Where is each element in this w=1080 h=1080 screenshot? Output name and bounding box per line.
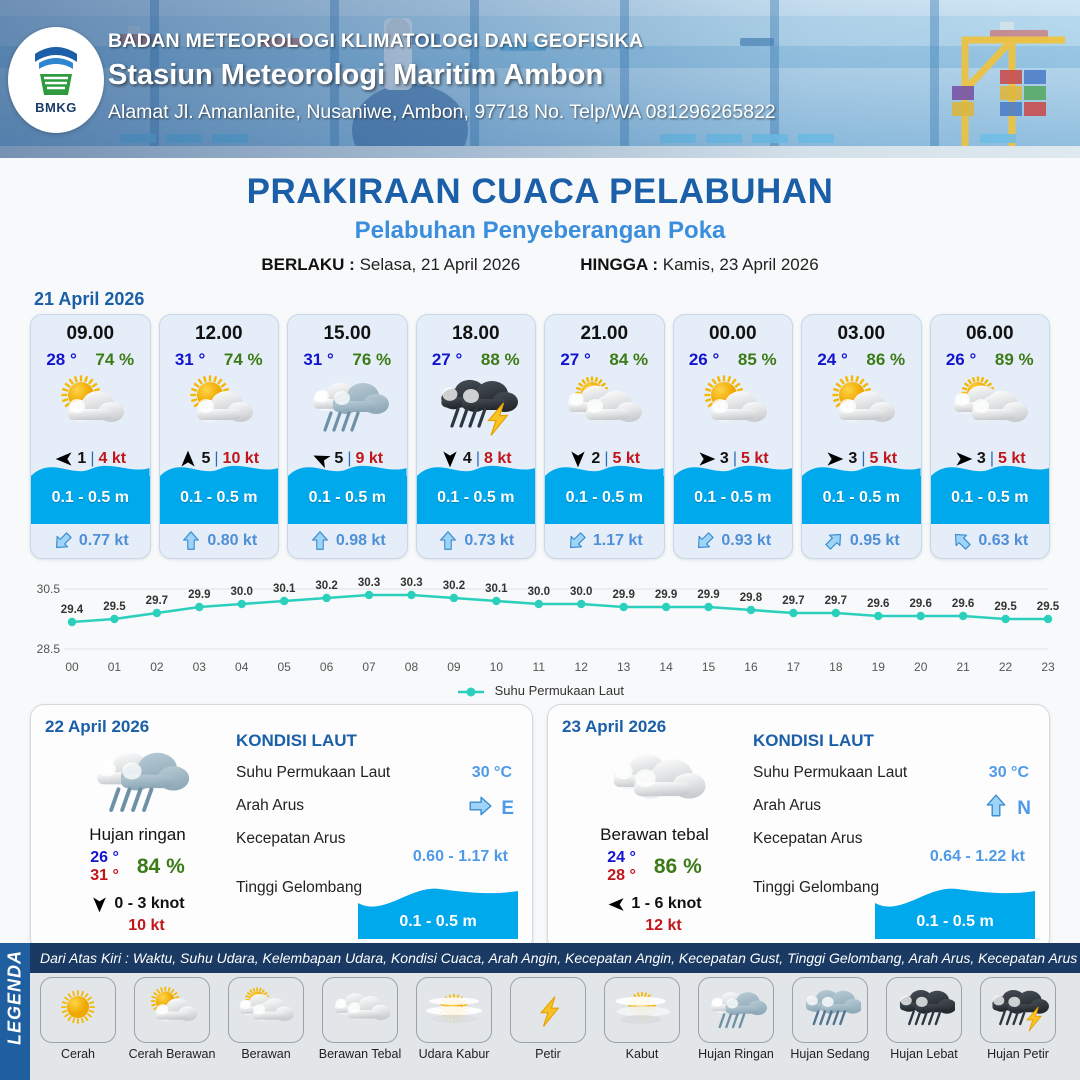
wave-crest-icon: [802, 460, 921, 478]
current-direction-label: Arah Arus: [753, 797, 821, 814]
card-wave-height: 0.1 - 0.5 m: [931, 489, 1050, 507]
card-temperature: 24 °: [817, 350, 847, 370]
title-block: PRAKIRAAN CUACA PELABUHAN Pelabuhan Peny…: [0, 172, 1080, 275]
svg-text:16: 16: [744, 660, 758, 674]
day-left-column: 23 April 2026 Berawan tebal 24 ° 28 °: [562, 717, 747, 941]
day-current-direction-arrow-icon: [467, 793, 493, 824]
legend-item: Cerah Berawan: [128, 977, 216, 1061]
card-current-row: 0.93 kt: [674, 524, 793, 558]
svg-text:29.6: 29.6: [952, 598, 974, 610]
station-name: Stasiun Meteorologi Maritim Ambon: [108, 59, 776, 92]
svg-text:29.5: 29.5: [103, 601, 126, 613]
svg-text:29.8: 29.8: [740, 592, 763, 604]
svg-text:07: 07: [362, 660, 376, 674]
sst-value: 30 °C: [472, 764, 512, 782]
sst-chart-svg: 30.528.529.40029.50129.70229.90330.00430…: [18, 571, 1062, 679]
card-temperature: 27 °: [432, 350, 462, 370]
svg-text:30.2: 30.2: [315, 580, 337, 592]
svg-text:29.5: 29.5: [994, 601, 1017, 613]
day-sea-conditions: KONDISI LAUT Suhu Permukaan Laut 30 °C A…: [230, 717, 518, 941]
card-time: 00.00: [674, 315, 793, 345]
legend-item-label: Cerah: [34, 1047, 122, 1061]
legend-item: Kabut: [598, 977, 686, 1061]
card-weather-icon: [160, 372, 279, 442]
legend-icon-cerah-berawan: [134, 977, 210, 1043]
card-humidity: 86 %: [866, 350, 905, 370]
legend-sidebar: LEGENDA: [0, 943, 30, 1080]
svg-text:29.7: 29.7: [146, 595, 168, 607]
current-direction-value: N: [1017, 798, 1031, 820]
wave-crest-icon: [31, 460, 150, 478]
card-current-speed: 0.63 kt: [978, 532, 1028, 550]
day-left-column: 22 April 2026 Hujan ringan 26 ° 31 °: [45, 717, 230, 941]
svg-text:30.2: 30.2: [443, 580, 465, 592]
day-temp-min: 24 °: [607, 849, 636, 867]
bmkg-logo-symbol: [28, 45, 84, 99]
legend-icon-udara-kabur: [416, 977, 492, 1043]
svg-text:30.0: 30.0: [528, 586, 550, 598]
wave-crest-icon: [160, 460, 279, 478]
forecast-card[interactable]: 18.00 27 ° 88 % 4 |: [416, 314, 537, 559]
day-current-direction-arrow-icon: [983, 793, 1009, 824]
legend-item-label: Kabut: [598, 1047, 686, 1061]
card-weather-icon: [288, 372, 407, 442]
legend-icon-berawan-tebal: [322, 977, 398, 1043]
day-temps: 24 ° 28 ° 86 %: [562, 849, 747, 886]
day-temp-max: 28 °: [607, 867, 636, 885]
card-humidity: 89 %: [995, 350, 1034, 370]
day-wave-value: 0.1 - 0.5 m: [358, 913, 518, 931]
sea-conditions-title: KONDISI LAUT: [753, 731, 1035, 751]
current-speed-label: Kecepatan Arus: [753, 830, 862, 847]
card-current-row: 0.77 kt: [31, 524, 150, 558]
card-weather-icon: [674, 372, 793, 442]
card-time: 06.00: [931, 315, 1050, 345]
legend-icon-cerah: [40, 977, 116, 1043]
legend-icon-hujan-ringan: [698, 977, 774, 1043]
card-temperature: 31 °: [175, 350, 205, 370]
current-direction-arrow-icon: [309, 530, 331, 552]
card-time: 21.00: [545, 315, 664, 345]
daily-summary-panel[interactable]: 22 April 2026 Hujan ringan 26 ° 31 °: [30, 704, 533, 952]
valid-from-value: Selasa, 21 April 2026: [360, 255, 521, 274]
card-current-speed: 1.17 kt: [593, 532, 643, 550]
day-sea-conditions: KONDISI LAUT Suhu Permukaan Laut 30 °C A…: [747, 717, 1035, 941]
day-wind-row: 1 - 6 knot: [562, 895, 747, 914]
legend-icon-hujan-sedang: [792, 977, 868, 1043]
valid-until-label: HINGGA :: [580, 255, 658, 274]
station-address: Alamat Jl. Amanlanite, Nusaniwe, Ambon, …: [108, 101, 776, 124]
card-wave-height: 0.1 - 0.5 m: [160, 489, 279, 507]
daily-summary-panels: 22 April 2026 Hujan ringan 26 ° 31 °: [0, 704, 1080, 952]
card-current-row: 0.80 kt: [160, 524, 279, 558]
card-current-speed: 0.77 kt: [79, 532, 129, 550]
card-time: 09.00: [31, 315, 150, 345]
legend-item-label: Hujan Lebat: [880, 1047, 968, 1061]
legend-item: Berawan Tebal: [316, 977, 404, 1061]
sst-row: Suhu Permukaan Laut 30 °C: [236, 764, 518, 784]
legend-item-label: Petir: [504, 1047, 592, 1061]
svg-text:00: 00: [65, 660, 79, 674]
svg-text:08: 08: [405, 660, 419, 674]
svg-text:03: 03: [193, 660, 207, 674]
valid-from: BERLAKU : Selasa, 21 April 2026: [261, 255, 520, 275]
card-weather-icon: [931, 372, 1050, 442]
card-wave-band: 0.1 - 0.5 m: [417, 476, 536, 524]
day-humidity: 86 %: [654, 855, 702, 879]
card-weather-icon: [417, 372, 536, 442]
card-humidity: 88 %: [481, 350, 520, 370]
card-temperature: 26 °: [689, 350, 719, 370]
day-gust: 12 kt: [562, 917, 747, 935]
legend-item: Udara Kabur: [410, 977, 498, 1061]
svg-text:30.3: 30.3: [358, 577, 380, 589]
current-direction-row: Arah Arus N: [753, 797, 1035, 817]
svg-text:02: 02: [150, 660, 164, 674]
legend-icon-list: Cerah Cerah Berawan: [34, 977, 1074, 1061]
svg-text:21: 21: [956, 660, 970, 674]
current-direction-arrow-icon: [437, 530, 459, 552]
svg-text:29.9: 29.9: [655, 589, 677, 601]
wave-crest-icon: [674, 460, 793, 478]
forecast-card[interactable]: 12.00 31 ° 74 % 5 | 10 kt: [159, 314, 280, 559]
legend-icon-hujan-lebat: [886, 977, 962, 1043]
svg-text:29.6: 29.6: [867, 598, 889, 610]
card-humidity: 85 %: [738, 350, 777, 370]
legend-section: LEGENDA Dari Atas Kiri : Waktu, Suhu Uda…: [0, 943, 1080, 1080]
card-wave-height: 0.1 - 0.5 m: [545, 489, 664, 507]
svg-text:29.5: 29.5: [1037, 601, 1060, 613]
day-wave-value: 0.1 - 0.5 m: [875, 913, 1035, 931]
wave-height-label: Tinggi Gelombang: [753, 879, 879, 896]
day-wave-graphic: 0.1 - 0.5 m: [358, 887, 518, 939]
current-speed-value: 0.64 - 1.22 kt: [753, 848, 1035, 866]
svg-text:06: 06: [320, 660, 334, 674]
svg-text:13: 13: [617, 660, 631, 674]
legend-sidebar-label: LEGENDA: [5, 945, 26, 1051]
legend-item-label: Berawan: [222, 1047, 310, 1061]
current-speed-row: Kecepatan Arus: [236, 830, 518, 850]
sea-conditions-title: KONDISI LAUT: [236, 731, 518, 751]
chart-legend: Suhu Permukaan Laut: [0, 683, 1080, 698]
daily-summary-panel[interactable]: 23 April 2026 Berawan tebal 24 ° 28 °: [547, 704, 1050, 952]
svg-text:04: 04: [235, 660, 249, 674]
day-date: 22 April 2026: [45, 717, 230, 737]
current-speed-row: Kecepatan Arus: [753, 830, 1035, 850]
card-wave-height: 0.1 - 0.5 m: [674, 489, 793, 507]
day-wind-direction-arrow-icon: [607, 895, 626, 914]
svg-text:12: 12: [575, 660, 589, 674]
hourly-forecast-cards: 09.00 28 ° 74 % 1 | 4 kt: [0, 314, 1080, 559]
day-condition: Berawan tebal: [562, 825, 747, 845]
current-direction-label: Arah Arus: [236, 797, 304, 814]
current-direction-value-group: N: [983, 793, 1031, 824]
card-wave-height: 0.1 - 0.5 m: [417, 489, 536, 507]
svg-text:30.0: 30.0: [231, 586, 253, 598]
day-gust: 10 kt: [45, 917, 230, 935]
svg-text:01: 01: [108, 660, 122, 674]
card-weather-icon: [802, 372, 921, 442]
legend-item: Hujan Lebat: [880, 977, 968, 1061]
card-temperature: 31 °: [303, 350, 333, 370]
card-time: 18.00: [417, 315, 536, 345]
card-wave-band: 0.1 - 0.5 m: [545, 476, 664, 524]
card-time: 12.00: [160, 315, 279, 345]
current-speed-value: 0.60 - 1.17 kt: [236, 848, 518, 866]
valid-until-value: Kamis, 23 April 2026: [663, 255, 819, 274]
forecast-card[interactable]: 15.00 31 ° 76 % 5 |: [287, 314, 408, 559]
current-direction-arrow-icon: [694, 530, 716, 552]
svg-text:10: 10: [490, 660, 504, 674]
wave-crest-icon: [545, 460, 664, 478]
day-wave-graphic: 0.1 - 0.5 m: [875, 887, 1035, 939]
card-wave-band: 0.1 - 0.5 m: [802, 476, 921, 524]
day-wind-range: 1 - 6 knot: [631, 895, 701, 913]
chart-legend-marker: [456, 686, 486, 698]
day-condition: Hujan ringan: [45, 825, 230, 845]
day-wind-range: 0 - 3 knot: [114, 895, 184, 913]
agency-name: BADAN METEOROLOGI KLIMATOLOGI DAN GEOFIS…: [108, 30, 776, 53]
bmkg-logo: BMKG: [8, 27, 104, 133]
svg-text:29.4: 29.4: [61, 604, 84, 616]
forecast-date-label: 21 April 2026: [34, 289, 1080, 310]
svg-text:19: 19: [872, 660, 886, 674]
svg-text:15: 15: [702, 660, 716, 674]
sst-value: 30 °C: [989, 764, 1029, 782]
card-current-speed: 0.98 kt: [336, 532, 386, 550]
day-wind-row: 0 - 3 knot: [45, 895, 230, 914]
page-header: BMKG BADAN METEOROLOGI KLIMATOLOGI DAN G…: [0, 0, 1080, 158]
legend-item: Cerah: [34, 977, 122, 1061]
card-humidity: 74 %: [95, 350, 134, 370]
svg-text:11: 11: [533, 660, 546, 674]
svg-text:30.1: 30.1: [485, 583, 508, 595]
current-direction-value: E: [501, 798, 514, 820]
svg-text:30.1: 30.1: [273, 583, 296, 595]
forecast-card[interactable]: 21.00 27 ° 84 % 2 |: [544, 314, 665, 559]
card-time: 03.00: [802, 315, 921, 345]
card-weather-icon: [31, 372, 150, 442]
legend-item: Hujan Sedang: [786, 977, 874, 1061]
card-wave-band: 0.1 - 0.5 m: [931, 476, 1050, 524]
sst-label: Suhu Permukaan Laut: [236, 764, 390, 781]
day-weather-icon: [45, 741, 230, 823]
card-current-speed: 0.95 kt: [850, 532, 900, 550]
legend-item-label: Udara Kabur: [410, 1047, 498, 1061]
card-current-speed: 0.93 kt: [721, 532, 771, 550]
svg-text:30.3: 30.3: [400, 577, 422, 589]
current-direction-arrow-icon: [52, 530, 74, 552]
svg-text:20: 20: [914, 660, 928, 674]
card-current-row: 0.98 kt: [288, 524, 407, 558]
svg-text:29.9: 29.9: [612, 589, 634, 601]
svg-text:29.9: 29.9: [697, 589, 719, 601]
day-temps: 26 ° 31 ° 84 %: [45, 849, 230, 886]
validity-row: BERLAKU : Selasa, 21 April 2026 HINGGA :…: [0, 255, 1080, 275]
card-current-row: 0.73 kt: [417, 524, 536, 558]
legend-item-label: Berawan Tebal: [316, 1047, 404, 1061]
wave-height-label: Tinggi Gelombang: [236, 879, 362, 896]
legend-icon-kabut: [604, 977, 680, 1043]
sea-surface-temperature-chart: 30.528.529.40029.50129.70229.90330.00430…: [18, 571, 1062, 681]
day-temp-min: 26 °: [90, 849, 119, 867]
card-wave-band: 0.1 - 0.5 m: [31, 476, 150, 524]
card-temperature: 28 °: [46, 350, 76, 370]
card-wave-band: 0.1 - 0.5 m: [288, 476, 407, 524]
current-direction-arrow-icon: [566, 530, 588, 552]
legend-item-label: Hujan Petir: [974, 1047, 1062, 1061]
legend-item: Hujan Ringan: [692, 977, 780, 1061]
card-current-row: 0.95 kt: [802, 524, 921, 558]
wave-crest-icon: [288, 460, 407, 478]
card-wave-height: 0.1 - 0.5 m: [31, 489, 150, 507]
legend-item: Berawan: [222, 977, 310, 1061]
current-direction-arrow-icon: [823, 530, 845, 552]
svg-text:18: 18: [829, 660, 843, 674]
wave-crest-icon: [417, 460, 536, 478]
valid-from-label: BERLAKU :: [261, 255, 355, 274]
forecast-card[interactable]: 03.00 24 ° 86 % 3 | 5 kt: [801, 314, 922, 559]
page-title: PRAKIRAAN CUACA PELABUHAN: [0, 172, 1080, 212]
forecast-card[interactable]: 00.00 26 ° 85 % 3 | 5 kt: [673, 314, 794, 559]
current-direction-arrow-icon: [951, 530, 973, 552]
current-speed-label: Kecepatan Arus: [236, 830, 345, 847]
header-text-block: BADAN METEOROLOGI KLIMATOLOGI DAN GEOFIS…: [108, 30, 776, 124]
svg-text:29.7: 29.7: [825, 595, 847, 607]
svg-text:30.0: 30.0: [570, 586, 592, 598]
sst-label: Suhu Permukaan Laut: [753, 764, 907, 781]
wave-crest-icon: [931, 460, 1050, 478]
svg-text:30.5: 30.5: [37, 582, 61, 596]
forecast-card[interactable]: 09.00 28 ° 74 % 1 | 4 kt: [30, 314, 151, 559]
current-direction-arrow-icon: [180, 530, 202, 552]
day-humidity: 84 %: [137, 855, 185, 879]
card-humidity: 84 %: [609, 350, 648, 370]
legend-note: Dari Atas Kiri : Waktu, Suhu Udara, Kele…: [30, 943, 1080, 973]
card-wave-band: 0.1 - 0.5 m: [674, 476, 793, 524]
svg-text:09: 09: [447, 660, 461, 674]
sst-row: Suhu Permukaan Laut 30 °C: [753, 764, 1035, 784]
card-humidity: 76 %: [352, 350, 391, 370]
forecast-card[interactable]: 06.00 26 ° 89 % 3 |: [930, 314, 1051, 559]
svg-text:05: 05: [277, 660, 291, 674]
card-current-speed: 0.80 kt: [207, 532, 257, 550]
card-wave-band: 0.1 - 0.5 m: [160, 476, 279, 524]
legend-item-label: Cerah Berawan: [128, 1047, 216, 1061]
card-wave-height: 0.1 - 0.5 m: [802, 489, 921, 507]
bmkg-logo-text: BMKG: [35, 100, 77, 115]
current-direction-value-group: E: [467, 793, 514, 824]
day-weather-icon: [562, 741, 747, 823]
legend-item: Hujan Petir: [974, 977, 1062, 1061]
valid-until: HINGGA : Kamis, 23 April 2026: [580, 255, 818, 275]
legend-item-label: Hujan Ringan: [692, 1047, 780, 1061]
card-temperature: 27 °: [560, 350, 590, 370]
card-temperature: 26 °: [946, 350, 976, 370]
card-humidity: 74 %: [224, 350, 263, 370]
svg-text:29.6: 29.6: [910, 598, 932, 610]
current-direction-row: Arah Arus E: [236, 797, 518, 817]
day-wind-direction-arrow-icon: [90, 895, 109, 914]
svg-text:28.5: 28.5: [37, 642, 61, 656]
page-subtitle: Pelabuhan Penyeberangan Poka: [0, 217, 1080, 245]
svg-text:14: 14: [659, 660, 673, 674]
svg-text:29.9: 29.9: [188, 589, 210, 601]
svg-text:17: 17: [787, 660, 801, 674]
card-current-speed: 0.73 kt: [464, 532, 514, 550]
legend-item-label: Hujan Sedang: [786, 1047, 874, 1061]
svg-text:29.7: 29.7: [782, 595, 804, 607]
day-date: 23 April 2026: [562, 717, 747, 737]
legend-icon-berawan: [228, 977, 304, 1043]
svg-text:23: 23: [1041, 660, 1055, 674]
legend-icon-petir: [510, 977, 586, 1043]
card-time: 15.00: [288, 315, 407, 345]
chart-legend-label: Suhu Permukaan Laut: [495, 683, 624, 698]
card-current-row: 0.63 kt: [931, 524, 1050, 558]
card-weather-icon: [545, 372, 664, 442]
legend-icon-hujan-petir: [980, 977, 1056, 1043]
card-current-row: 1.17 kt: [545, 524, 664, 558]
day-temp-max: 31 °: [90, 867, 119, 885]
legend-item: Petir: [504, 977, 592, 1061]
svg-text:22: 22: [999, 660, 1013, 674]
card-wave-height: 0.1 - 0.5 m: [288, 489, 407, 507]
